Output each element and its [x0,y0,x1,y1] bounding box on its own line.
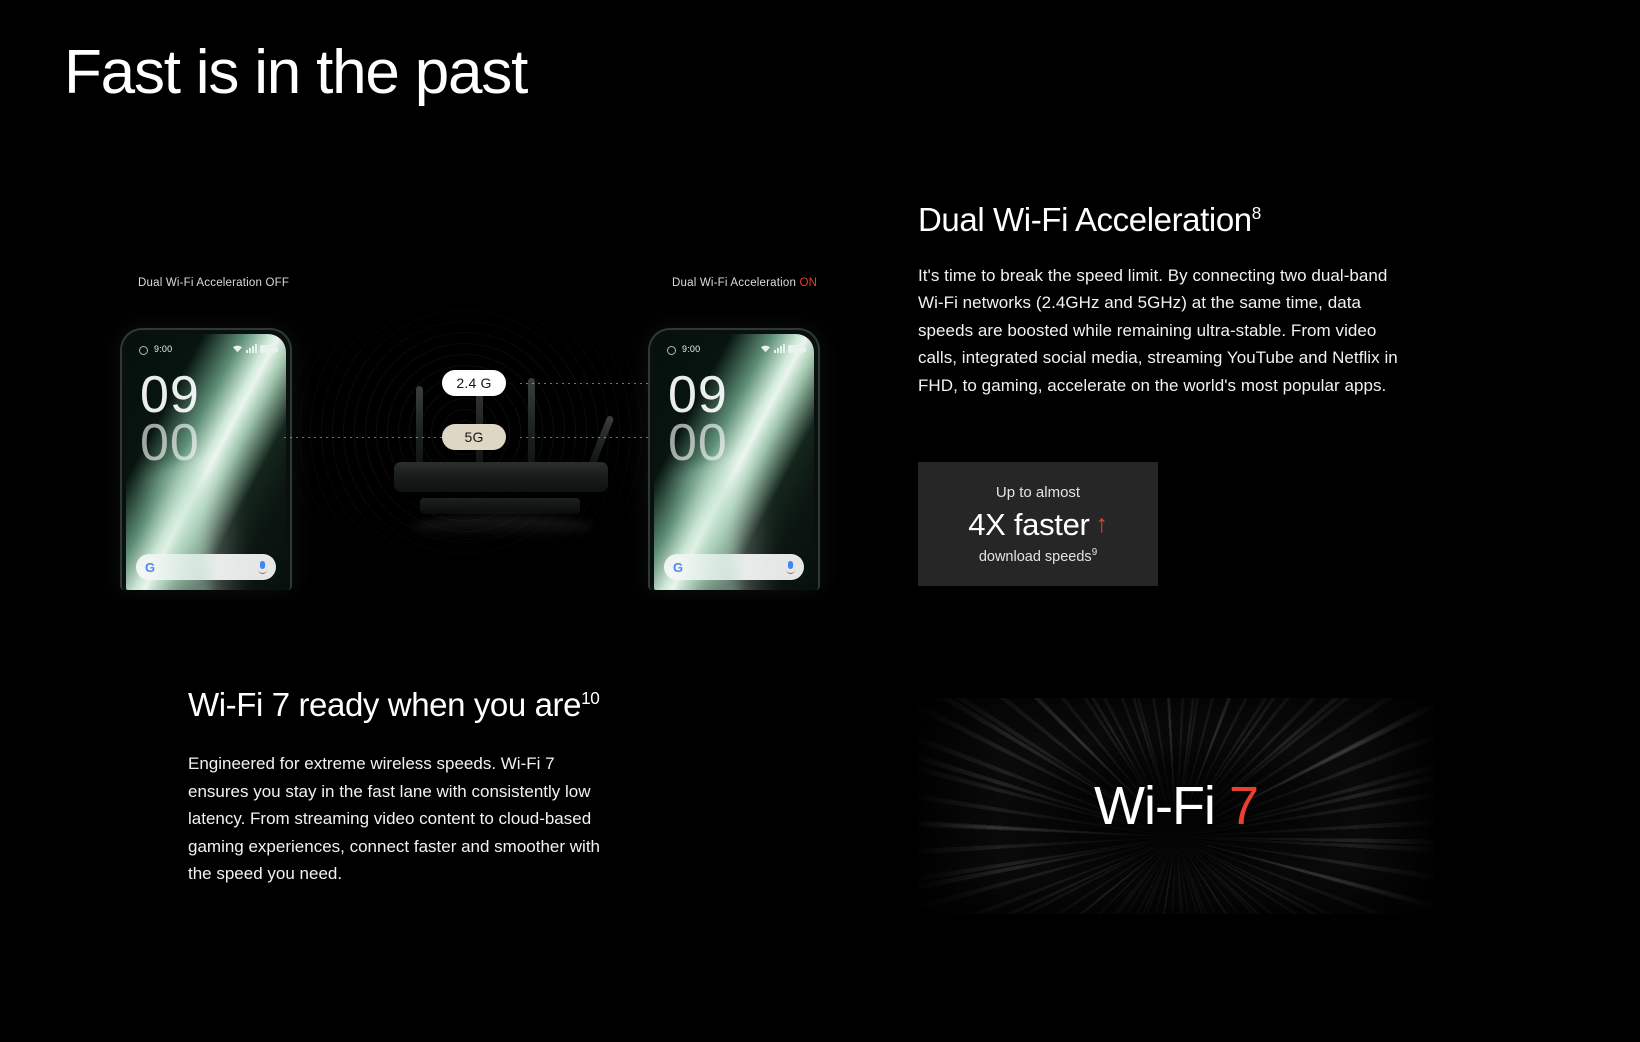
mic-icon[interactable] [258,561,267,574]
phone-acceleration-on: 9:00 0900 G [648,328,820,590]
wifi7-card-label-accent: 7 [1229,776,1258,836]
router-antenna [416,386,423,470]
status-bar-time: 9:00 [682,344,700,354]
status-bar-indicators [760,344,804,353]
stat-card-top-label: Up to almost [996,484,1080,501]
battery-icon [788,345,804,353]
dual-wifi-body: It's time to break the speed limit. By c… [918,262,1410,400]
band-badge-2-4g: 2.4 G [442,370,506,396]
router-antenna [528,378,535,470]
wifi7-title-text: Wi-Fi 7 ready when you are [188,686,581,723]
stat-card-download-speed: Up to almost 4X faster ↑ download speeds… [918,462,1158,586]
label-acceleration-off: Dual Wi-Fi Acceleration OFF [138,277,289,289]
wifi7-title-footnote: 10 [581,688,599,708]
dual-wifi-section: Dual Wi-Fi Acceleration8 It's time to br… [918,200,1418,399]
phone-acceleration-off: 9:00 0900 G [120,328,292,590]
stat-card-sub-label: download speeds9 [979,549,1097,565]
dual-wifi-title-footnote: 8 [1252,203,1261,223]
phone-screen: 9:00 0900 G [654,334,814,590]
band-badge-5g: 5G [442,424,506,450]
label-acceleration-on-state: ON [800,277,818,289]
google-logo-icon: G [673,561,683,574]
status-bar-time: 9:00 [154,344,172,354]
google-search-widget[interactable]: G [664,554,804,580]
connection-line [520,437,666,438]
wifi7-section: Wi-Fi 7 ready when you are10 Engineered … [188,686,728,888]
wifi7-body: Engineered for extreme wireless speeds. … [188,750,618,888]
clock-minutes: 00 [140,414,200,472]
wifi7-title: Wi-Fi 7 ready when you are10 [188,686,728,724]
wifi-icon [232,344,243,353]
stat-card-sub-text: download speeds [979,549,1092,565]
stat-card-value-row: 4X faster ↑ [968,507,1108,543]
camera-punchhole-icon [667,346,676,355]
google-logo-icon: G [145,561,155,574]
wifi7-card-label: Wi-Fi 7 [918,775,1434,837]
signal-bars-icon [246,344,257,353]
wifi7-card-label-prefix: Wi-Fi [1094,776,1229,836]
lockscreen-clock: 0900 [668,372,728,468]
google-search-widget[interactable]: G [136,554,276,580]
router-reflection [412,516,592,538]
router-body [394,462,608,492]
stat-card-value: 4X faster [968,507,1089,543]
mic-icon[interactable] [786,561,795,574]
dual-wifi-illustration: Dual Wi-Fi Acceleration OFF Dual Wi-Fi A… [70,250,860,600]
label-acceleration-on: Dual Wi-Fi Acceleration ON [672,277,817,289]
dual-wifi-title: Dual Wi-Fi Acceleration8 [918,200,1418,240]
page-root: Fast is in the past Dual Wi-Fi Accelerat… [0,0,1640,1042]
signal-bars-icon [774,344,785,353]
connection-line [284,437,442,438]
clock-minutes: 00 [668,414,728,472]
arrow-up-icon: ↑ [1096,512,1108,537]
lockscreen-clock: 0900 [140,372,200,468]
status-bar-indicators [232,344,276,353]
dual-wifi-title-text: Dual Wi-Fi Acceleration [918,201,1252,238]
label-acceleration-on-prefix: Dual Wi-Fi Acceleration [672,277,800,289]
battery-icon [260,345,276,353]
wifi-icon [760,344,771,353]
page-title: Fast is in the past [64,40,527,105]
stat-card-sub-footnote: 9 [1092,547,1097,558]
connection-line [520,383,666,384]
wifi7-image-card: Wi-Fi 7 [918,698,1434,914]
camera-punchhole-icon [139,346,148,355]
router-base [420,498,580,514]
phone-screen: 9:00 0900 G [126,334,286,590]
